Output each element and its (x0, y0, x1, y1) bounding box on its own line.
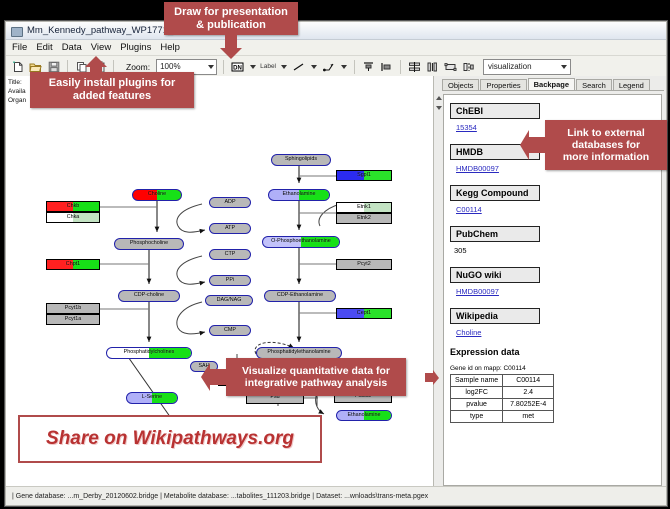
callout-draw-text: Draw for presentation & publication (174, 6, 288, 31)
node-label: Sgpl1 (357, 173, 371, 178)
cell-value: C00114 (503, 375, 554, 387)
node-dag-nag[interactable]: DAG/NAG (205, 295, 253, 306)
callout-plugins: Easily install plugins for added feature… (30, 72, 194, 108)
node-label: Pcyt1b (65, 306, 81, 311)
node-label: Ethanolamine (283, 192, 316, 197)
chevron-down-icon (281, 65, 287, 69)
menu-item-help[interactable]: Help (160, 42, 180, 53)
node-label: Psd (270, 395, 279, 400)
callout-visualize-text: Visualize quantitative data for integrat… (242, 365, 390, 389)
node-ctp[interactable]: CTP (209, 249, 251, 260)
node-sgpl1[interactable]: Sgpl1 (336, 170, 392, 181)
node-sphingolipids[interactable]: Sphingolipids (271, 154, 331, 166)
callout-expression-arrow (425, 370, 439, 386)
node-label: Cept1 (357, 311, 371, 316)
ungroup-icon[interactable] (461, 59, 476, 74)
label-tool-label[interactable]: Label (260, 63, 276, 70)
node-label: CDP-Ethanolamine (277, 293, 323, 298)
node-chka[interactable]: Chka (46, 212, 100, 223)
distribute-horizontal-icon[interactable] (425, 59, 440, 74)
node-pcyt2[interactable]: Pcyt2 (336, 259, 392, 270)
node-label: Phosphatidylcholines (124, 350, 175, 355)
datanode-icon[interactable]: DN (230, 59, 245, 74)
node-label: Sphingolipids (285, 157, 317, 162)
line-dropdown[interactable] (309, 60, 318, 74)
callout-link: Link to external databases for more info… (545, 120, 667, 170)
node-label: Etnk2 (357, 216, 371, 221)
tab-underline (442, 90, 664, 91)
db-header-nugo-wiki: NuGO wiki (450, 267, 540, 283)
node-choline-top[interactable]: Choline (132, 189, 182, 201)
distribute-vertical-icon[interactable] (407, 59, 422, 74)
chevron-down-icon (561, 65, 567, 69)
table-row: log2FC 2.4 (451, 387, 554, 399)
node-ppi[interactable]: PPi (209, 275, 251, 286)
expression-table: Sample name C00114 log2FC 2.4 pvalue 7.8… (450, 374, 554, 423)
cell-key: pvalue (451, 399, 503, 411)
node-ethanolamine-top[interactable]: Ethanolamine (268, 189, 330, 201)
db-header-kegg-compound: Kegg Compound (450, 185, 540, 201)
node-cept1[interactable]: Cept1 (336, 308, 392, 319)
db-link-wikipedia[interactable]: Choline (456, 328, 657, 337)
node-label: ADP (224, 200, 235, 205)
table-row: Sample name C00114 (451, 375, 554, 387)
callout-draw: Draw for presentation & publication (164, 2, 298, 35)
cell-key: Sample name (451, 375, 503, 387)
new-file-icon[interactable] (10, 59, 25, 74)
toolbar-separator (354, 60, 355, 74)
callout-link-arrow (519, 129, 547, 161)
datanode-dropdown[interactable] (248, 60, 257, 74)
node-label: Phosphatidylethanolamine (267, 350, 330, 355)
menu-item-edit[interactable]: Edit (36, 42, 52, 53)
node-label: Chka (67, 215, 80, 220)
status-text: | Gene database: ...m_Derby_20120602.bri… (6, 493, 428, 500)
interaction-arrow-icon[interactable] (321, 59, 336, 74)
node-chpt1[interactable]: Chpt1 (46, 259, 100, 270)
menu-item-data[interactable]: Data (62, 42, 82, 53)
node-label: Etnk1 (357, 205, 371, 210)
node-label: DAG/NAG (217, 298, 242, 303)
expression-data-title: Expression data (450, 347, 657, 357)
node-l-serine-left[interactable]: L-Serine (126, 392, 178, 404)
zoom-value: 100% (160, 62, 180, 71)
db-header-chebi: ChEBI (450, 103, 540, 119)
title-bar: Mm_Kennedy_pathway_WP1771_45176.gpml (6, 22, 666, 40)
menu-item-file[interactable]: File (12, 42, 27, 53)
toolbar-separator (400, 60, 401, 74)
visualization-value: visualization (488, 62, 532, 71)
node-label: Pcyt2 (357, 262, 370, 267)
node-cmp[interactable]: CMP (209, 325, 251, 336)
table-row: pvalue 7.80252E-4 (451, 399, 554, 411)
cell-key: log2FC (451, 387, 503, 399)
db-link-nugo-wiki[interactable]: HMDB00097 (456, 287, 657, 296)
align-top-icon[interactable] (361, 59, 376, 74)
node-label: CTP (225, 252, 236, 257)
callout-visualize-arrow (200, 362, 228, 392)
node-o-phosphoethanolamine[interactable]: O-Phosphoethanolamine (262, 236, 340, 248)
zoom-label: Zoom: (126, 62, 150, 72)
node-phosphocholine[interactable]: Phosphocholine (114, 238, 184, 250)
node-label: Phosphocholine (130, 241, 168, 246)
node-label: CDP-choline (134, 293, 164, 298)
db-header-pubchem: PubChem (450, 226, 540, 242)
scroll-up-icon[interactable] (436, 96, 442, 100)
db-header-wikipedia: Wikipedia (450, 308, 540, 324)
node-label: Ethanolamine (348, 413, 381, 418)
callout-plugins-arrow (84, 56, 108, 76)
pathvisio-icon (11, 25, 22, 36)
side-panel-tabs: Objects Properties Backpage Search Legen… (442, 77, 666, 91)
node-label: Chpt1 (66, 262, 80, 267)
chevron-down-icon (311, 65, 317, 69)
toolbar-separator (223, 60, 224, 74)
side-panel-scroll-arrows[interactable] (435, 96, 441, 120)
line-icon[interactable] (291, 59, 306, 74)
node-pcyt1a[interactable]: Pcyt1a (46, 314, 100, 325)
cell-value: 2.4 (503, 387, 554, 399)
visualization-select[interactable]: visualization (483, 59, 571, 75)
cell-value: met (503, 411, 554, 423)
node-adp[interactable]: ADP (209, 197, 251, 208)
node-label: Pcyt1a (65, 317, 81, 322)
table-row: type met (451, 411, 554, 423)
node-atp[interactable]: ATP (209, 223, 251, 234)
status-bar: | Gene database: ...m_Derby_20120602.bri… (6, 486, 666, 505)
callout-draw-arrow (219, 34, 243, 60)
cell-key: type (451, 411, 503, 423)
node-cdp-ethanolamine[interactable]: CDP-Ethanolamine (264, 290, 336, 302)
node-pcyt1b[interactable]: Pcyt1b (46, 303, 100, 314)
node-label: CMP (224, 328, 236, 333)
gene-id-on-mapp: Gene id on mapp: C00114 (450, 365, 657, 372)
menu-bar: File Edit Data View Plugins Help (6, 40, 666, 56)
cell-value: 7.80252E-4 (503, 399, 554, 411)
node-phosphatidylcholines[interactable]: Phosphatidylcholines (106, 347, 192, 359)
chevron-down-icon (250, 65, 256, 69)
callout-share-box: Share on Wikipathways.org (18, 415, 322, 463)
db-link-kegg-compound[interactable]: C00114 (456, 205, 657, 214)
node-ethanolamine-bottom[interactable]: Ethanolamine (336, 410, 392, 421)
node-label: ATP (225, 226, 235, 231)
callout-link-text: Link to external databases for more info… (563, 127, 649, 163)
node-label: Choline (148, 192, 166, 197)
node-cdp-choline[interactable]: CDP-choline (118, 290, 180, 302)
chevron-down-icon (341, 65, 347, 69)
node-chkb[interactable]: Chkb (46, 201, 100, 212)
node-etnk1[interactable]: Etnk1 (336, 202, 392, 213)
node-label: L-Serine (142, 395, 162, 400)
menu-item-view[interactable]: View (91, 42, 111, 53)
node-label: O-Phosphoethanolamine (271, 239, 331, 244)
align-left-icon[interactable] (379, 59, 394, 74)
label-dropdown[interactable] (279, 60, 288, 74)
group-icon[interactable] (443, 59, 458, 74)
node-label: Chkb (67, 204, 80, 209)
interaction-dropdown[interactable] (339, 60, 348, 74)
menu-item-plugins[interactable]: Plugins (120, 42, 151, 53)
callout-visualize: Visualize quantitative data for integrat… (226, 358, 406, 396)
scroll-down-icon[interactable] (436, 106, 442, 110)
chevron-down-icon (208, 65, 214, 69)
node-label: PPi (226, 278, 234, 283)
svg-text:DN: DN (233, 65, 242, 71)
callout-share-text: Share on Wikipathways.org (46, 428, 294, 450)
node-etnk2[interactable]: Etnk2 (336, 213, 392, 224)
screenshot-root: Mm_Kennedy_pathway_WP1771_45176.gpml Fil… (0, 0, 670, 509)
db-value-pubchem: 305 (454, 246, 657, 255)
callout-plugins-text: Easily install plugins for added feature… (49, 77, 176, 102)
